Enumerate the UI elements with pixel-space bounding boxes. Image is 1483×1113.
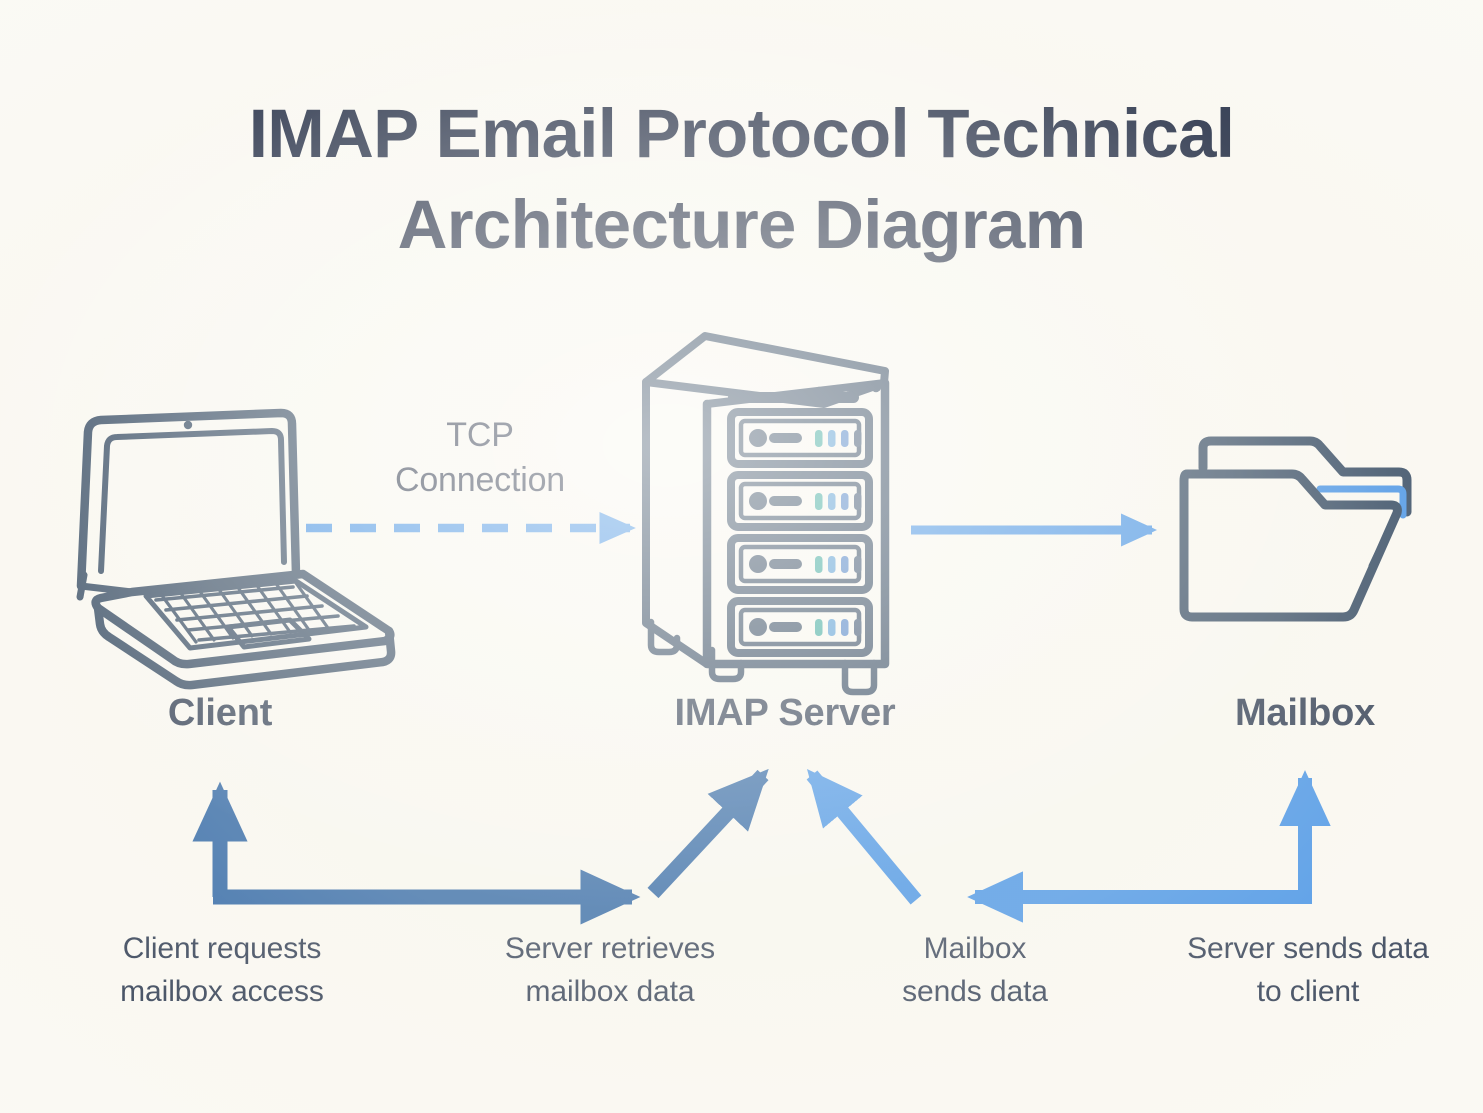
node-label-client: Client: [70, 692, 370, 735]
server-sends-flow-arrow: [975, 778, 1312, 897]
server-rack-unit: [731, 412, 869, 464]
caption-line-2: to client: [1143, 971, 1473, 1014]
server-rack-icon: [646, 336, 885, 692]
server-retrieves-flow-arrow: [653, 775, 763, 893]
caption-line-1: Mailbox: [840, 928, 1110, 971]
tcp-label-line-2: Connection: [330, 458, 630, 503]
caption-line-1: Client requests: [62, 928, 382, 971]
caption-line-1: Server retrieves: [450, 928, 770, 971]
caption-line-1: Server sends data: [1143, 928, 1473, 971]
folder-icon: [1184, 441, 1407, 617]
server-rack-unit: [731, 475, 869, 527]
flow-caption-client-requests: Client requests mailbox access: [62, 928, 382, 1013]
caption-line-2: mailbox access: [62, 971, 382, 1014]
flow-caption-server-sends: Server sends data to client: [1143, 928, 1473, 1013]
node-label-mailbox: Mailbox: [1145, 692, 1465, 735]
flow-caption-mailbox-sends: Mailbox sends data: [840, 928, 1110, 1013]
mailbox-sends-flow-arrow: [812, 775, 916, 900]
client-requests-flow-arrow: [213, 790, 600, 897]
server-rack-unit: [731, 538, 869, 590]
flow-caption-server-retrieves: Server retrieves mailbox data: [450, 928, 770, 1013]
tcp-label-line-1: TCP: [330, 413, 630, 458]
caption-line-2: mailbox data: [450, 971, 770, 1014]
caption-line-2: sends data: [840, 971, 1110, 1014]
diagram-canvas: IMAP Email Protocol Technical Architectu…: [0, 0, 1483, 1113]
server-rack-unit: [731, 601, 869, 653]
tcp-connection-label: TCP Connection: [330, 413, 630, 503]
node-label-imap-server: IMAP Server: [615, 692, 955, 735]
